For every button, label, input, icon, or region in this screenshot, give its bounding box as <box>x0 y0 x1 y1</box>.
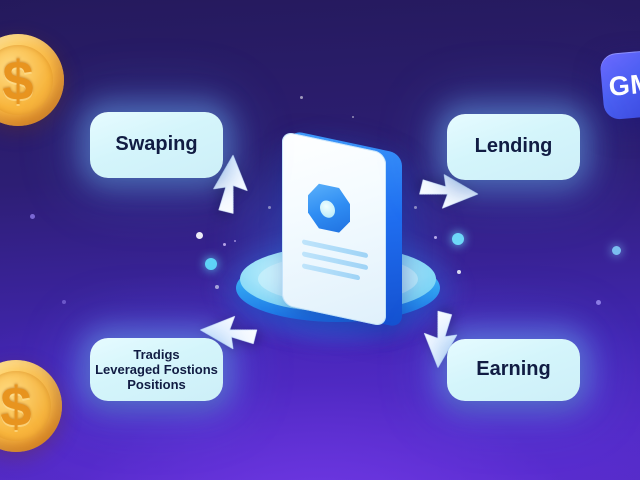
background-particle <box>612 246 621 255</box>
coin-top-left: $ <box>0 34 64 126</box>
background-particle <box>268 206 271 209</box>
illustration-scene: $$ GM SwapingLendingTradigsLeveraged Fos… <box>0 0 640 480</box>
dollar-sign-icon: $ <box>0 34 64 126</box>
background-particle <box>300 96 303 99</box>
background-particle <box>223 243 226 246</box>
background-particle <box>434 236 437 239</box>
background-particle <box>234 240 236 242</box>
document-card-face <box>282 131 386 327</box>
background-particle <box>452 233 464 245</box>
label-pill-text: Lending <box>475 135 553 159</box>
label-pill-lending[interactable]: Lending <box>447 114 580 180</box>
label-pill-text: Earning <box>476 358 550 382</box>
label-pill-text: TradigsLeveraged FostionsPositions <box>95 347 218 393</box>
gm-badge: GM <box>599 50 640 121</box>
label-pill-swaping[interactable]: Swaping <box>90 112 223 178</box>
document-card <box>282 142 402 316</box>
background-particle <box>596 300 601 305</box>
background-particle <box>414 206 417 209</box>
background-particle <box>352 116 354 118</box>
background-particle <box>30 214 35 219</box>
background-particle <box>205 258 217 270</box>
dollar-sign-icon: $ <box>0 360 62 452</box>
coin-bottom-left: $ <box>0 360 62 452</box>
label-pill-earning[interactable]: Earning <box>447 339 580 401</box>
label-pill-trading-leveraged-positions[interactable]: TradigsLeveraged FostionsPositions <box>90 338 223 401</box>
background-particle <box>62 300 66 304</box>
background-particle <box>196 232 203 239</box>
gm-badge-label: GM <box>607 68 640 103</box>
label-pill-text: Swaping <box>115 133 197 157</box>
